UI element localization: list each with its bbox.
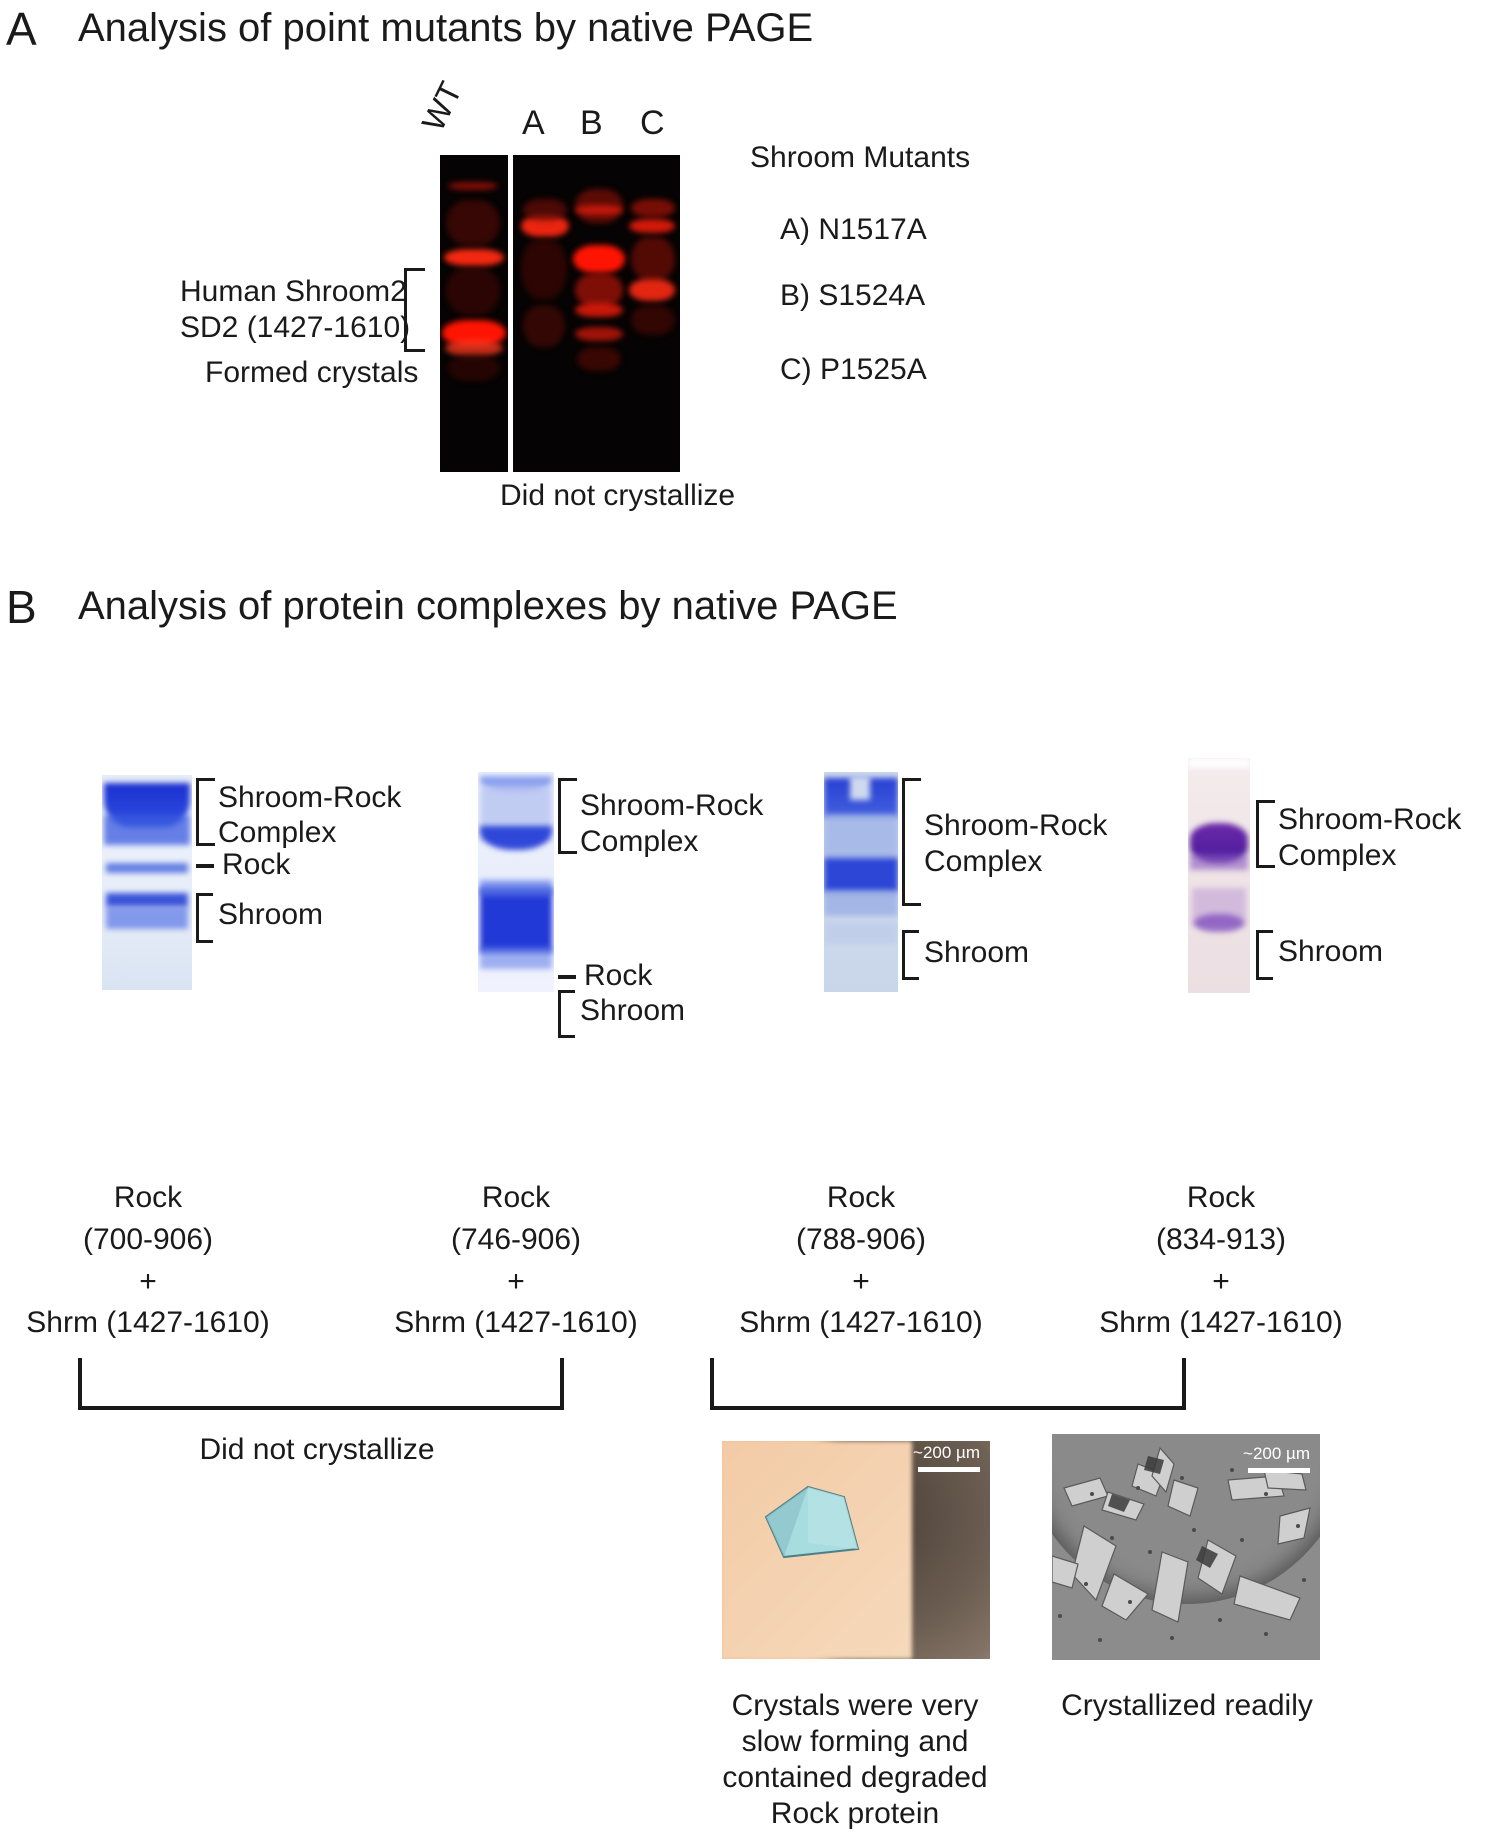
panel-a-right-heading: Shroom Mutants — [750, 140, 970, 175]
panel-a-bracket — [404, 268, 425, 352]
band-b2-complex-bottom — [480, 826, 552, 850]
label-b4-complex-line2: Complex — [1278, 838, 1396, 873]
band-b2-tail — [480, 947, 552, 969]
label-b2-complex-line1: Shroom-Rock — [580, 788, 763, 823]
band-a-tail — [521, 239, 567, 299]
construct-b4-plus: + — [1178, 1264, 1264, 1299]
band-wt-top-faint — [448, 182, 498, 190]
label-b3-shroom: Shroom — [924, 935, 1029, 970]
panel-a-left-label-line3: Formed crystals — [205, 355, 418, 390]
photo2-scale-bar — [1248, 1468, 1310, 1473]
construct-b1-plus: + — [105, 1264, 191, 1299]
label-b2-shroom: Shroom — [580, 993, 685, 1028]
lane-label-c: C — [640, 104, 665, 143]
panel-b-title: Analysis of protein complexes by native … — [78, 584, 898, 629]
photo1-caption-line3: contained degraded — [700, 1760, 1010, 1795]
gel-panel-b-3 — [824, 772, 898, 992]
group-bracket-left — [78, 1358, 564, 1410]
construct-b1-line1: Rock — [105, 1180, 191, 1215]
construct-b2-plus: + — [473, 1264, 559, 1299]
bracket-b3-complex — [902, 778, 921, 906]
construct-b3-plus: + — [818, 1264, 904, 1299]
band-b3-complex-bottom — [824, 858, 898, 892]
bracket-b1-complex — [196, 778, 215, 846]
construct-b4-line3: Shrm (1427-1610) — [1093, 1305, 1349, 1340]
label-b4-complex-line1: Shroom-Rock — [1278, 802, 1461, 837]
panel-a-bottom-caption: Did not crystallize — [500, 478, 735, 513]
band-b3-tail — [824, 890, 898, 916]
label-b1-shroom: Shroom — [218, 897, 323, 932]
band-b1-shroom-upper — [106, 893, 188, 907]
dash-b1-rock-line — [196, 864, 214, 868]
band-c-main-upper — [629, 219, 675, 233]
panel-b-letter: B — [6, 580, 37, 634]
bracket-b1-shroom — [196, 893, 213, 943]
construct-b4-line2: (834-913) — [1138, 1222, 1304, 1257]
label-b1-complex-line1: Shroom-Rock — [218, 780, 401, 815]
photo1-scale-label: ~200 µm — [913, 1443, 980, 1463]
photo2-caption-line1: Crystallized readily — [1032, 1688, 1342, 1723]
panel-a-left-label-line2: SD2 (1427-1610) — [180, 310, 410, 345]
gel-panel-a-abc — [513, 155, 680, 472]
band-wt-upper — [444, 249, 504, 266]
band-wt-smear — [446, 200, 500, 246]
label-b3-complex-line1: Shroom-Rock — [924, 808, 1107, 843]
group-bracket-right — [710, 1358, 1186, 1410]
band-b1-shroom-lower — [106, 907, 188, 929]
band-c-mid-smear — [631, 237, 675, 281]
band-b-faint-2 — [575, 303, 623, 317]
gel-panel-a-wt — [440, 155, 508, 472]
band-b-tail — [575, 273, 623, 307]
band-b-bottom-smear — [577, 347, 621, 371]
band-c-top — [631, 199, 675, 217]
label-b4-shroom: Shroom — [1278, 934, 1383, 969]
label-b2-complex-line2: Complex — [580, 824, 698, 859]
band-b2-rock-edge — [480, 880, 552, 896]
band-b3-complex-mid — [824, 814, 898, 860]
gel-panel-b-4 — [1188, 758, 1250, 993]
band-b1-rock — [106, 863, 188, 873]
bracket-b3-shroom — [902, 930, 919, 980]
photo1-caption-line1: Crystals were very — [700, 1688, 1010, 1723]
bracket-b2-shroom — [558, 990, 575, 1038]
panel-a-mutant-b: B) S1524A — [780, 278, 925, 313]
panel-a-mutant-c: C) P1525A — [780, 352, 927, 387]
construct-b4-line1: Rock — [1178, 1180, 1264, 1215]
band-b4-shroom — [1194, 914, 1244, 932]
dash-b2-rock — [558, 975, 576, 979]
outcome-left-caption: Did not crystallize — [78, 1432, 556, 1467]
lane-label-b: B — [580, 104, 603, 143]
construct-b3-line2: (788-906) — [778, 1222, 944, 1257]
crystal-photo-1: ~200 µm — [722, 1441, 990, 1659]
bracket-b4-complex — [1256, 800, 1275, 868]
label-b1-rock: Rock — [222, 847, 290, 882]
bracket-b4-shroom — [1256, 930, 1273, 980]
band-b4-complex-tail — [1190, 854, 1248, 870]
construct-b2-line3: Shrm (1427-1610) — [388, 1305, 644, 1340]
band-b-faint-3 — [575, 327, 623, 341]
band-wt-midsmear — [446, 267, 500, 315]
band-b3-well-notch — [850, 776, 870, 800]
photo1-caption-line2: slow forming and — [700, 1724, 1010, 1759]
panel-a-letter: A — [6, 2, 37, 56]
crystal-photo-2: ~200 µm — [1052, 1434, 1320, 1660]
construct-b2-line2: (746-906) — [433, 1222, 599, 1257]
band-c-tail — [631, 305, 675, 335]
band-b4-well — [1188, 758, 1250, 768]
construct-b3-line1: Rock — [818, 1180, 904, 1215]
panel-a-title: Analysis of point mutants by native PAGE — [78, 6, 813, 51]
lane-label-wt: WT — [415, 76, 470, 137]
band-wt-bottom-smear — [448, 355, 500, 381]
construct-b1-line2: (700-906) — [65, 1222, 231, 1257]
band-b-faint-1 — [575, 205, 623, 215]
photo2-scale-label: ~200 µm — [1243, 1444, 1310, 1464]
gel-panel-b-1 — [102, 775, 192, 990]
band-a-lower-smear — [523, 305, 565, 347]
label-b3-complex-line2: Complex — [924, 844, 1042, 879]
panel-a-mutant-a: A) N1517A — [780, 212, 927, 247]
label-b2-rock: Rock — [584, 958, 652, 993]
bracket-b2-complex — [558, 778, 577, 854]
photo1-caption-line4: Rock protein — [700, 1796, 1010, 1831]
panel-a-left-label-line1: Human Shroom2 — [180, 274, 407, 309]
band-b2-rock-shroom — [480, 887, 552, 953]
label-b1-complex-line2: Complex — [218, 815, 336, 850]
band-a-upper-smear — [523, 199, 567, 221]
construct-b3-line3: Shrm (1427-1610) — [733, 1305, 989, 1340]
construct-b2-line1: Rock — [473, 1180, 559, 1215]
photo1-scale-bar — [918, 1467, 980, 1472]
construct-b1-line3: Shrm (1427-1610) — [20, 1305, 276, 1340]
band-b3-shroom — [824, 922, 898, 944]
band-wt-lower-tail — [445, 340, 503, 356]
band-c-main-lower — [629, 279, 675, 301]
band-b-main — [573, 245, 625, 273]
band-b1-complex-tail — [104, 815, 190, 845]
gel-panel-b-2 — [478, 772, 554, 992]
photo1-crystal-shape — [762, 1483, 872, 1573]
lane-label-a: A — [522, 104, 545, 143]
